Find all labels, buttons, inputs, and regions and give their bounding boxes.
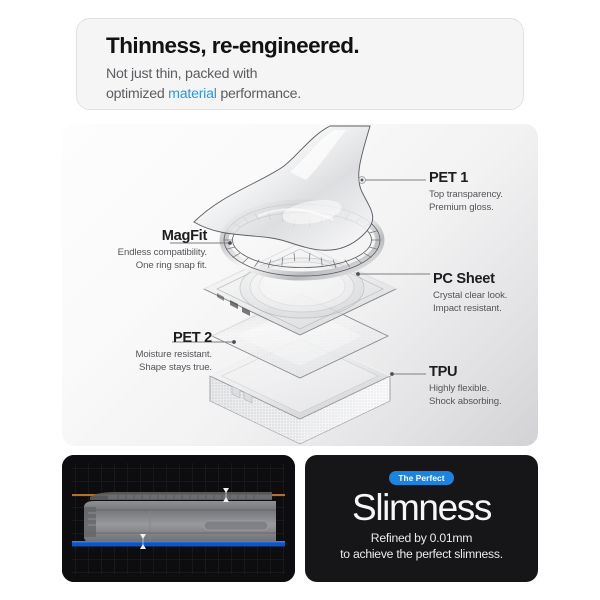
callout-pet1-desc-line2: Premium gloss. [429,202,503,215]
callout-magfit-title: MagFit [40,228,207,244]
callout-pc-sheet-title: PC Sheet [433,271,507,287]
callout-tpu-desc-line2: Shock absorbing. [429,396,502,409]
slimness-title: Slimness [305,487,538,529]
callout-tpu-desc-line1: Highly flexible. [429,383,502,396]
callout-pet2: PET 2 Moisture resistant. Shape stays tr… [45,330,212,374]
callout-pet2-desc-line2: Shape stays true. [45,362,212,375]
page-title: Thinness, re-engineered. [106,33,523,58]
callout-tpu: TPU Highly flexible. Shock absorbing. [429,364,502,408]
status-badge: The Perfect [389,471,453,485]
callout-pet2-desc-line1: Moisture resistant. [45,349,212,362]
side-button [204,521,268,530]
subtitle-suffix: performance. [217,86,301,102]
subtitle-prefix: optimized [106,86,168,102]
subtitle-line-2: optimized material performance. [106,85,523,105]
callout-pet1-desc-line1: Top transparency. [429,189,503,202]
callout-pc-sheet: PC Sheet Crystal clear look. Impact resi… [433,271,507,315]
slimness-subtitle-line2: to achieve the perfect slimness. [305,547,538,563]
product-infographic-page: Thinness, re-engineered. Not just thin, … [0,0,600,600]
callout-tpu-desc: Highly flexible. Shock absorbing. [429,383,502,408]
callout-tpu-title: TPU [429,364,502,380]
header-card: Thinness, re-engineered. Not just thin, … [76,18,524,110]
callout-pc-sheet-desc-line1: Crystal clear look. [433,290,507,303]
callout-pet2-title: PET 2 [45,330,212,346]
subtitle-highlight: material [168,86,216,102]
callout-magfit-desc-line2: One ring snap fit. [40,260,207,273]
callout-pc-sheet-desc: Crystal clear look. Impact resistant. [433,290,507,315]
callout-pc-sheet-desc-line2: Impact resistant. [433,303,507,316]
layer-pet1-shape [194,126,373,250]
callout-magfit-desc-line1: Endless compatibility. [40,247,207,260]
callout-pet1-title: PET 1 [429,170,503,186]
callout-pet2-desc: Moisture resistant. Shape stays true. [45,349,212,374]
callout-magfit-desc: Endless compatibility. One ring snap fit… [40,247,207,272]
slimness-subtitle-line1: Refined by 0.01mm [305,531,538,547]
callout-pet1-desc: Top transparency. Premium gloss. [429,189,503,214]
slimness-panel: The Perfect Slimness Refined by 0.01mm t… [305,455,538,582]
cross-section-svg [62,455,295,582]
page-subtitle: Not just thin, packed with optimized mat… [106,65,523,104]
callout-pet1: PET 1 Top transparency. Premium gloss. [429,170,503,214]
slimness-subtitle: Refined by 0.01mm to achieve the perfect… [305,531,538,563]
subtitle-line-1: Not just thin, packed with [106,65,523,85]
cross-section-panel [62,455,295,582]
callout-magfit: MagFit Endless compatibility. One ring s… [40,228,207,272]
